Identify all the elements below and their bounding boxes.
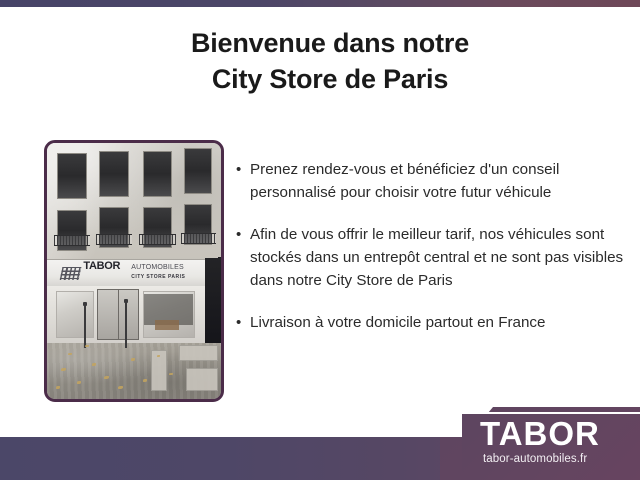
bullet-text: Livraison à votre domicile partout en Fr… — [250, 311, 626, 334]
sign-subline: CITY STORE PARIS — [131, 275, 185, 280]
side-dark-panel — [205, 258, 221, 342]
bollard — [125, 299, 127, 348]
top-accent-bar — [0, 0, 640, 7]
sign-brand: TABOR — [83, 261, 120, 272]
window — [57, 153, 87, 199]
shop-desk — [155, 320, 179, 330]
bullet-marker: • — [236, 311, 250, 334]
shop-sign: TABOR AUTOMOBILES CITY STORE PARIS — [47, 259, 221, 288]
balcony-railing — [54, 235, 91, 246]
bullet-text: Prenez rendez-vous et bénéficiez d'un co… — [250, 158, 626, 204]
shop-sign-inner: TABOR AUTOMOBILES CITY STORE PARIS — [61, 263, 211, 286]
footer-logo-panel: TABOR tabor-automobiles.fr — [462, 414, 640, 480]
fallen-leaf — [131, 358, 135, 361]
bullet-list: • Prenez rendez-vous et bénéficiez d'un … — [236, 158, 626, 353]
fallen-leaf — [143, 379, 147, 382]
door-divider — [118, 290, 119, 339]
bollard — [84, 302, 86, 348]
photo-canvas: TABOR AUTOMOBILES CITY STORE PARIS — [47, 143, 221, 399]
window — [143, 151, 173, 197]
list-item: • Livraison à votre domicile partout en … — [236, 311, 626, 334]
fallen-leaf — [56, 386, 60, 389]
list-item: • Prenez rendez-vous et bénéficiez d'un … — [236, 158, 626, 204]
slide: Bienvenue dans notre City Store de Paris — [0, 0, 640, 480]
sign-dot-pattern-icon — [60, 267, 82, 280]
fallen-leaf — [68, 353, 72, 355]
shop-door — [97, 289, 139, 340]
fallen-leaf — [77, 381, 81, 384]
page-title: Bienvenue dans notre City Store de Paris — [110, 26, 550, 98]
window — [99, 151, 129, 197]
title-line-1: Bienvenue dans notre — [110, 26, 550, 62]
sign-suffix: AUTOMOBILES — [131, 264, 184, 271]
brand-logo: TABOR — [480, 417, 600, 450]
bullet-marker: • — [236, 223, 250, 246]
list-item: • Afin de vous offrir le meilleur tarif,… — [236, 223, 626, 292]
window — [184, 148, 212, 194]
curb-stone — [186, 368, 217, 391]
brand-tagline: tabor-automobiles.fr — [483, 454, 587, 466]
balcony-railing — [139, 234, 176, 245]
bollard-cap — [124, 299, 128, 303]
storefront-photo: TABOR AUTOMOBILES CITY STORE PARIS — [44, 140, 224, 402]
bullet-marker: • — [236, 158, 250, 181]
curb-stone — [179, 345, 217, 360]
bollard-cap — [83, 302, 87, 306]
title-line-2: City Store de Paris — [110, 62, 550, 98]
bullet-text: Afin de vous offrir le meilleur tarif, n… — [250, 223, 626, 292]
balcony-railing — [96, 234, 133, 245]
shop-window-left — [56, 291, 94, 337]
balcony-railing — [181, 233, 216, 244]
